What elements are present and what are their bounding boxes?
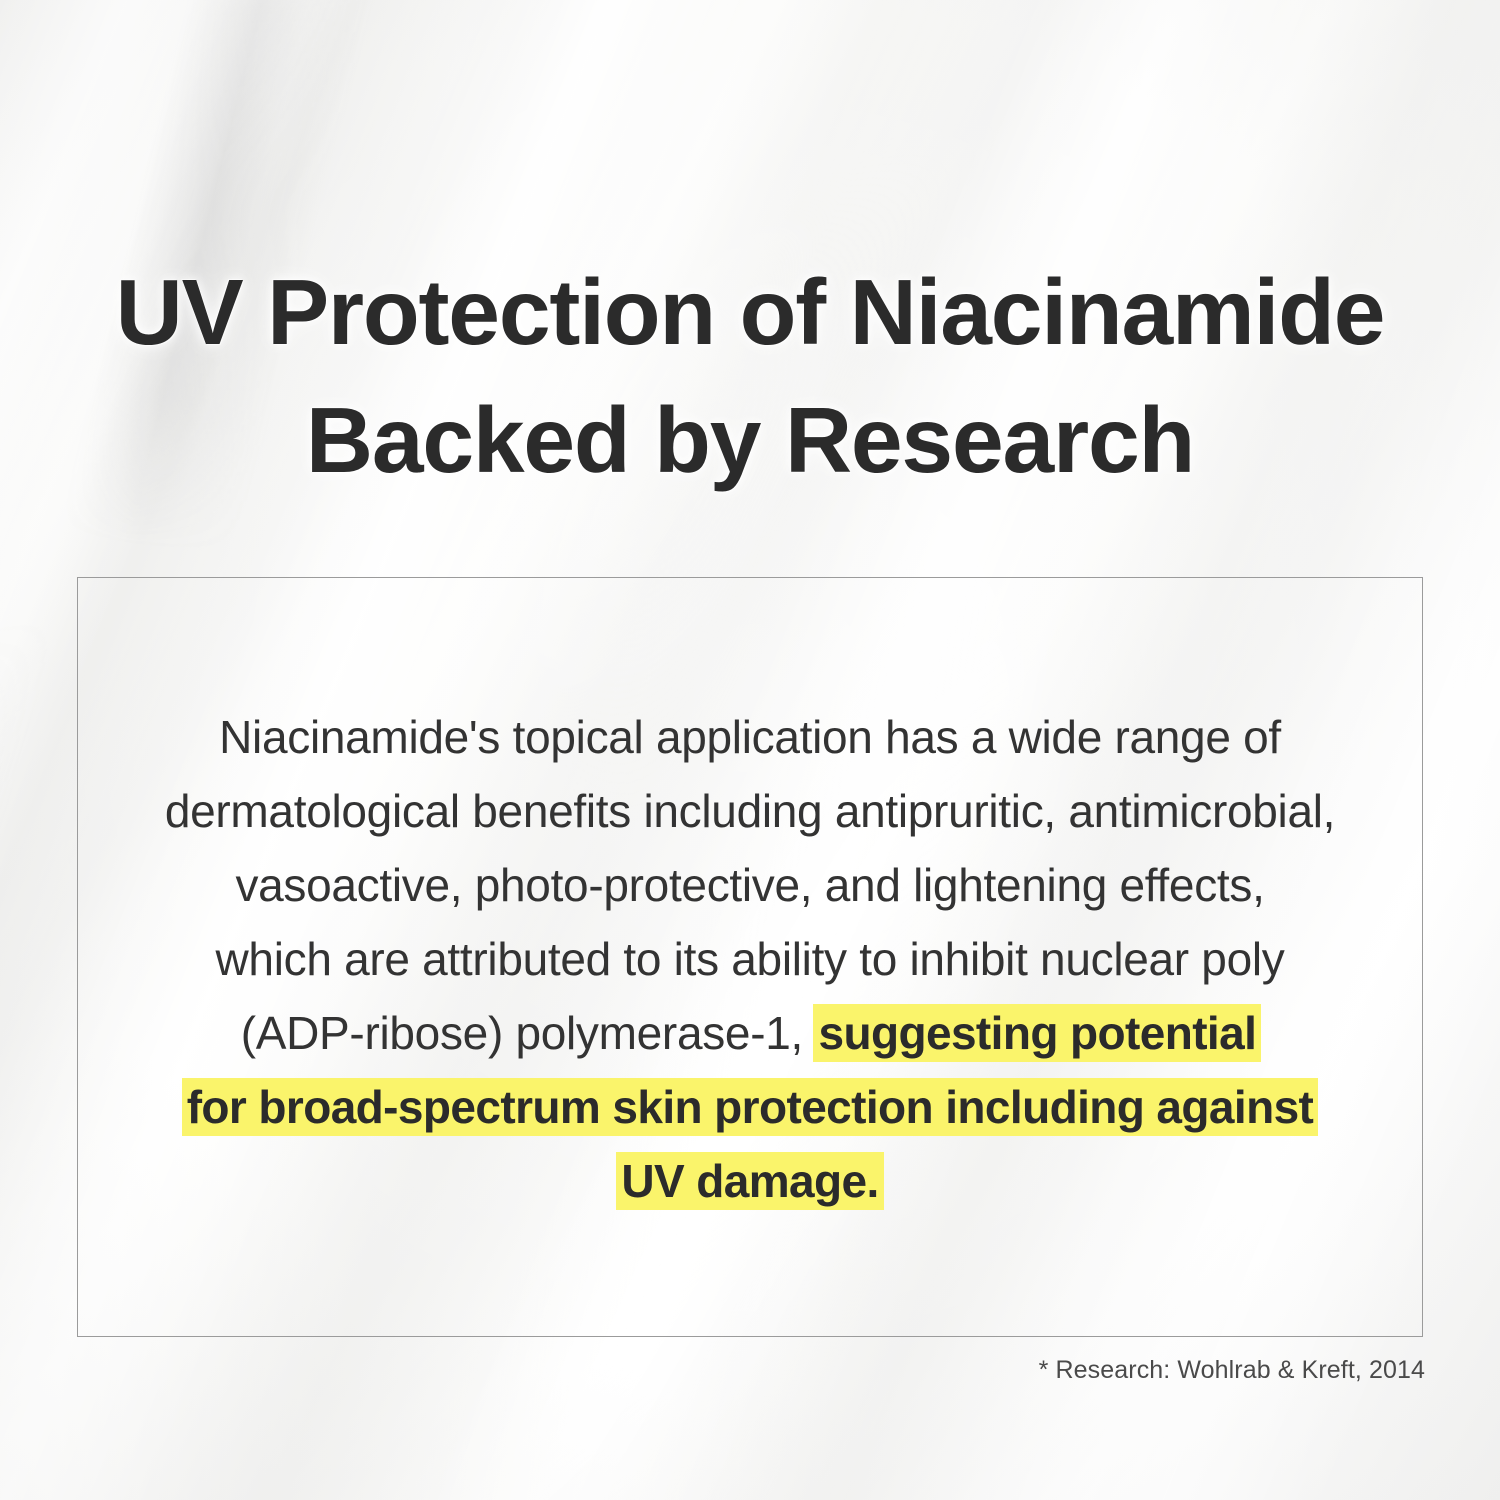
body-line-2: dermatological benefits including antipr… [77, 774, 1423, 848]
page-title-line-2: Backed by Research [0, 376, 1500, 504]
page-title-line-1: UV Protection of Niacinamide [0, 248, 1500, 376]
body-line-5-plain: (ADP-ribose) polymerase-1, [241, 1007, 803, 1059]
body-line-4: which are attributed to its ability to i… [77, 922, 1423, 996]
infographic-canvas: UV Protection of Niacinamide Backed by R… [0, 0, 1500, 1500]
body-line-1: Niacinamide's topical application has a … [77, 700, 1423, 774]
page-title: UV Protection of Niacinamide Backed by R… [0, 248, 1500, 504]
body-line-3: vasoactive, photo-protective, and lighte… [77, 848, 1423, 922]
body-line-6: for broad-spectrum skin protection inclu… [77, 1070, 1423, 1144]
body-paragraph: Niacinamide's topical application has a … [77, 700, 1423, 1218]
body-line-7: UV damage. [77, 1144, 1423, 1218]
highlight-phrase-2: for broad-spectrum skin protection inclu… [184, 1080, 1317, 1134]
highlight-phrase-3: UV damage. [618, 1154, 881, 1208]
body-line-5: (ADP-ribose) polymerase-1, suggesting po… [77, 996, 1423, 1070]
research-citation: * Research: Wohlrab & Kreft, 2014 [77, 1356, 1425, 1385]
highlight-phrase-1: suggesting potential [815, 1006, 1259, 1060]
